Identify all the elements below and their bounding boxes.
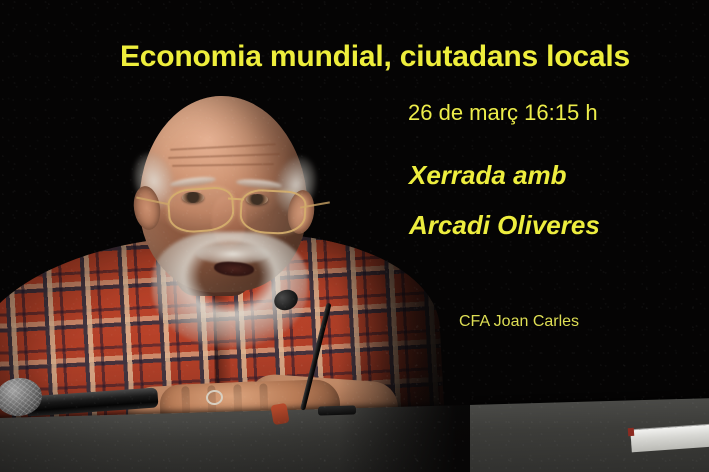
eyeglasses [150, 180, 326, 238]
event-poster: Economia mundial, ciutadans locals 26 de… [0, 0, 709, 472]
gooseneck-microphone-base [318, 405, 356, 415]
event-datetime: 26 de març 16:15 h [408, 100, 598, 126]
speaker-intro: Xerrada amb [409, 160, 567, 191]
speaker-name: Arcadi Oliveres [409, 210, 600, 241]
red-wristband [270, 403, 289, 425]
organization-name: CFA Joan Carles [459, 313, 579, 331]
papers-red-tab [628, 428, 635, 436]
lens-right [239, 188, 307, 235]
poster-title: Economia mundial, ciutadans locals [120, 40, 698, 75]
lens-left [167, 186, 236, 234]
